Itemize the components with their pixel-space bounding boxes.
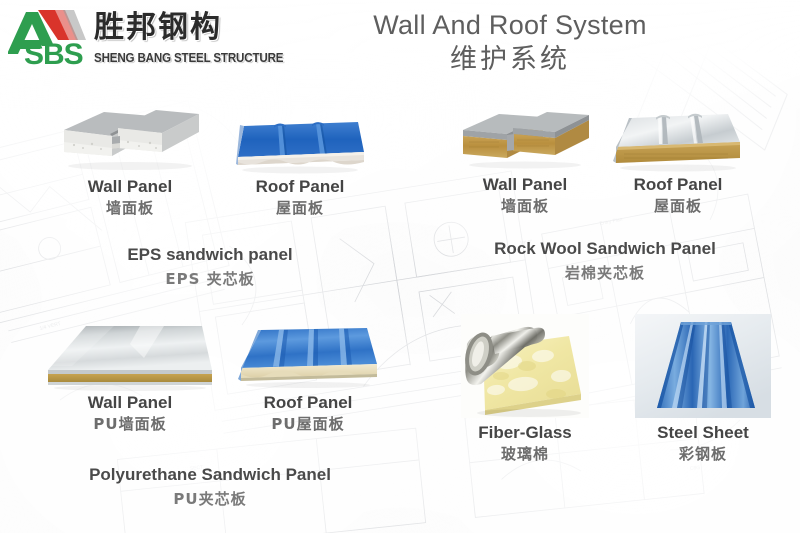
eps-roof-panel-illustration (230, 112, 370, 176)
product-rockwool-roof-panel[interactable]: Roof Panel 屋面板 (602, 108, 754, 217)
group-title-en: Rock Wool Sandwich Panel (450, 238, 760, 260)
logo-english-name: SHENG BANG STEEL STRUCTURE (94, 48, 271, 68)
product-label-en: Steel Sheet (618, 422, 788, 443)
steel-sheet-photo (635, 314, 771, 418)
page-title-chinese: 维护系统 (300, 42, 720, 78)
product-label-cn: 玻璃棉 (440, 443, 610, 465)
product-label-cn: 墙面板 (450, 195, 600, 217)
product-label-en: Fiber-Glass (440, 422, 610, 443)
group-title-cn: 岩棉夹芯板 (450, 262, 760, 284)
product-group-polyurethane: Wall Panel PU墙面板 (30, 318, 390, 508)
product-eps-roof-panel[interactable]: Roof Panel 屋面板 (220, 112, 380, 219)
product-label-en: Roof Panel (220, 176, 380, 197)
group-title-cn: PU夹芯板 (30, 488, 390, 510)
product-pu-roof-panel[interactable]: Roof Panel PU屋面板 (226, 322, 390, 435)
product-label-cn: PU墙面板 (40, 413, 220, 435)
page-title-english: Wall And Roof System (300, 8, 720, 42)
logo-chinese-name: 胜邦钢构 (94, 8, 284, 48)
product-label-cn: 彩钢板 (618, 443, 788, 465)
product-label-cn: PU屋面板 (226, 413, 390, 435)
fiber-glass-photo (461, 314, 589, 418)
page-title: Wall And Roof System 维护系统 (300, 8, 720, 78)
svg-text:SBS: SBS (24, 38, 83, 70)
product-rockwool-wall-panel[interactable]: Wall Panel 墙面板 (450, 108, 600, 217)
group-title-en: EPS sandwich panel (40, 244, 380, 266)
product-steel-sheet[interactable]: Steel Sheet 彩钢板 (618, 314, 788, 465)
steel-sheet-illustration (635, 314, 771, 418)
product-label-en: Wall Panel (450, 174, 600, 195)
rockwool-roof-panel-illustration (610, 108, 746, 174)
product-label-en: Wall Panel (50, 176, 210, 197)
product-label-en: Roof Panel (602, 174, 754, 195)
rockwool-roof-panel-photo (610, 108, 746, 174)
product-label-cn: 屋面板 (602, 195, 754, 217)
product-group-rockwool: Wall Panel 墙面板 (450, 104, 780, 289)
product-group-materials: Fiber-Glass 玻璃棉 (440, 314, 790, 494)
pu-wall-panel-photo (44, 318, 216, 392)
group-title-cn: EPS 夹芯板 (40, 268, 380, 290)
group-title-en: Polyurethane Sandwich Panel (30, 464, 390, 486)
eps-roof-panel-photo (230, 112, 370, 176)
product-fiber-glass[interactable]: Fiber-Glass 玻璃棉 (440, 314, 610, 465)
company-logo: SBS 胜邦钢构 SHENG BANG STEEL STRUCTURE (8, 4, 280, 74)
product-pu-wall-panel[interactable]: Wall Panel PU墙面板 (40, 318, 220, 435)
pu-roof-panel-photo (235, 322, 381, 392)
product-label-cn: 屋面板 (220, 197, 380, 219)
fiber-glass-illustration (461, 314, 589, 418)
eps-wall-panel-photo (56, 104, 204, 176)
product-label-en: Wall Panel (40, 392, 220, 413)
rockwool-wall-panel-photo (457, 108, 593, 174)
sbs-logo-mark-icon: SBS (8, 6, 100, 70)
eps-wall-panel-illustration (56, 104, 204, 176)
rockwool-wall-panel-illustration (457, 108, 593, 174)
pu-wall-panel-illustration (44, 318, 216, 392)
product-group-eps: Wall Panel 墙面板 (40, 104, 380, 289)
slide-canvas: G.4 B.4 D.4 1/4 VERT 18'-9" Q.2 Entry Pl… (0, 0, 800, 533)
product-label-cn: 墙面板 (50, 197, 210, 219)
product-eps-wall-panel[interactable]: Wall Panel 墙面板 (50, 104, 210, 219)
product-label-en: Roof Panel (226, 392, 390, 413)
pu-roof-panel-illustration (235, 322, 381, 392)
logo-chinese-text: 胜邦钢构 (94, 8, 284, 48)
